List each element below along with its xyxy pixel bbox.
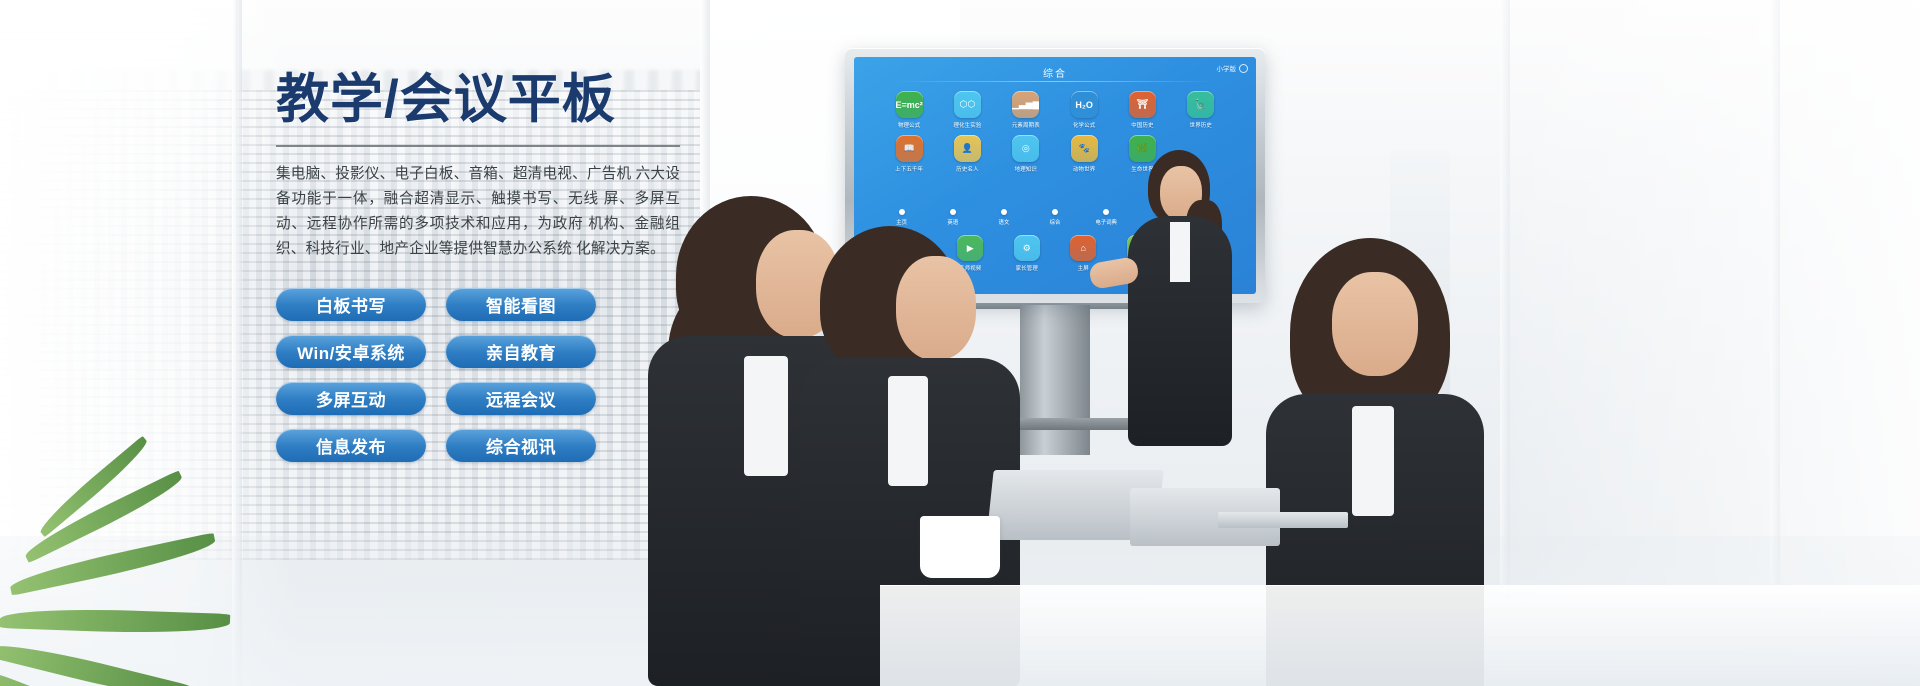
edition-badge-label: 小学版 (1217, 63, 1237, 73)
historical-figures-icon: 👤 (954, 135, 981, 162)
feature-button-whiteboard[interactable]: 白板书写 (276, 288, 426, 321)
hero-description: 集电脑、投影仪、电子白板、音箱、超清电视、广告机 六大设备功能于一体，融合超清显… (276, 162, 680, 262)
app-tile-label: 地理知识 (1015, 165, 1037, 173)
nav-item-label: 语文 (998, 218, 1009, 226)
button-label: 智能看图 (486, 292, 556, 317)
coffee-cup (920, 516, 1000, 578)
button-label: Win/安卓系统 (297, 339, 405, 364)
nav-dot-icon (1001, 209, 1007, 215)
physics-formula-icon: E=mc² (896, 91, 923, 118)
feature-button-education[interactable]: 亲自教育 (446, 335, 596, 368)
page-title: 教学/会议平板 (276, 72, 696, 128)
app-tile-5[interactable]: ⛩中国历史 (1113, 91, 1171, 129)
nav-item-2[interactable]: 英语 (927, 209, 978, 226)
world-history-icon: 🗽 (1187, 91, 1214, 118)
screen-divider (894, 81, 1216, 82)
app-tile-label: 物理公式 (898, 121, 920, 129)
nav-item-label: 主页 (896, 218, 907, 226)
nav-dot-icon (950, 209, 956, 215)
nav-item-4[interactable]: 综合 (1029, 209, 1080, 226)
app-tile-label: 化学公式 (1073, 121, 1095, 129)
app-tile-4[interactable]: H₂O化学公式 (1055, 91, 1113, 129)
app-tile-2[interactable]: ⬡⬡理化生实验 (938, 91, 996, 129)
nav-item-label: 综合 (1050, 218, 1061, 226)
feature-button-video-conference[interactable]: 综合视讯 (446, 429, 596, 462)
display-stand-column (1020, 305, 1090, 455)
periodic-table-icon: ▁▃▅▆ (1012, 91, 1039, 118)
button-label: 多屏互动 (316, 386, 386, 411)
edition-badge[interactable]: 小学版 (1217, 63, 1249, 73)
button-label: 信息发布 (316, 433, 386, 458)
notebook (1218, 512, 1348, 528)
dock-tile-label: 主屏 (1078, 264, 1089, 272)
app-tile-6[interactable]: 🗽世界历史 (1172, 91, 1230, 129)
nav-item-label: 电子词典 (1095, 218, 1117, 226)
app-tile-label: 上下五千年 (895, 165, 923, 173)
app-tile-label: 中国历史 (1131, 121, 1153, 129)
feature-button-smart-image[interactable]: 智能看图 (446, 288, 596, 321)
app-tile-3[interactable]: ▁▃▅▆元素周期表 (997, 91, 1055, 129)
nav-dot-icon (899, 209, 905, 215)
app-tile-1[interactable]: E=mc²物理公式 (880, 91, 938, 129)
geography-icon: ◎ (1012, 135, 1039, 162)
app-tile-label: 元素周期表 (1012, 121, 1040, 129)
button-label: 综合视讯 (486, 433, 556, 458)
hero-copy: 教学/会议平板 集电脑、投影仪、电子白板、音箱、超清电视、广告机 六大设备功能于… (276, 72, 696, 262)
palm-plant (0, 446, 270, 686)
hero-banner: 教学/会议平板 集电脑、投影仪、电子白板、音箱、超清电视、广告机 六大设备功能于… (0, 0, 1920, 686)
feature-button-os[interactable]: Win/安卓系统 (276, 335, 426, 368)
button-label: 亲自教育 (486, 339, 556, 364)
app-tile-7[interactable]: 📖上下五千年 (880, 135, 938, 173)
nav-dot-icon (1103, 209, 1109, 215)
five-thousand-years-icon: 📖 (896, 135, 923, 162)
chemistry-lab-icon: ⬡⬡ (954, 91, 981, 118)
nav-dot-icon (1052, 209, 1058, 215)
button-label: 白板书写 (316, 292, 386, 317)
app-tile-label: 世界历史 (1190, 121, 1212, 129)
feature-button-info-publish[interactable]: 信息发布 (276, 429, 426, 462)
nav-item-1[interactable]: 主页 (876, 209, 927, 226)
conference-table (880, 585, 1920, 686)
chemistry-formula-icon: H₂O (1071, 91, 1098, 118)
title-divider (276, 145, 680, 147)
feature-button-multiscreen[interactable]: 多屏互动 (276, 382, 426, 415)
china-history-icon: ⛩ (1129, 91, 1156, 118)
feature-button-remote-meeting[interactable]: 远程会议 (446, 382, 596, 415)
app-tile-label: 历史名人 (956, 165, 978, 173)
nav-item-3[interactable]: 语文 (978, 209, 1029, 226)
presenter (1120, 150, 1240, 450)
app-tile-9[interactable]: ◎地理知识 (997, 135, 1055, 173)
app-tile-label: 动物世界 (1073, 165, 1095, 173)
nav-item-label: 英语 (947, 218, 958, 226)
screen-title: 综合 (854, 65, 1256, 80)
app-tile-10[interactable]: 🐾动物世界 (1055, 135, 1113, 173)
home-screen-icon: ⌂ (1070, 235, 1096, 261)
app-tile-label: 理化生实验 (954, 121, 982, 129)
power-dot-icon (1239, 64, 1248, 73)
animal-world-icon: 🐾 (1071, 135, 1098, 162)
feature-button-grid: 白板书写 智能看图 Win/安卓系统 亲自教育 多屏互动 远程会议 信息发布 综… (276, 288, 606, 462)
button-label: 远程会议 (486, 386, 556, 411)
app-tile-8[interactable]: 👤历史名人 (938, 135, 996, 173)
